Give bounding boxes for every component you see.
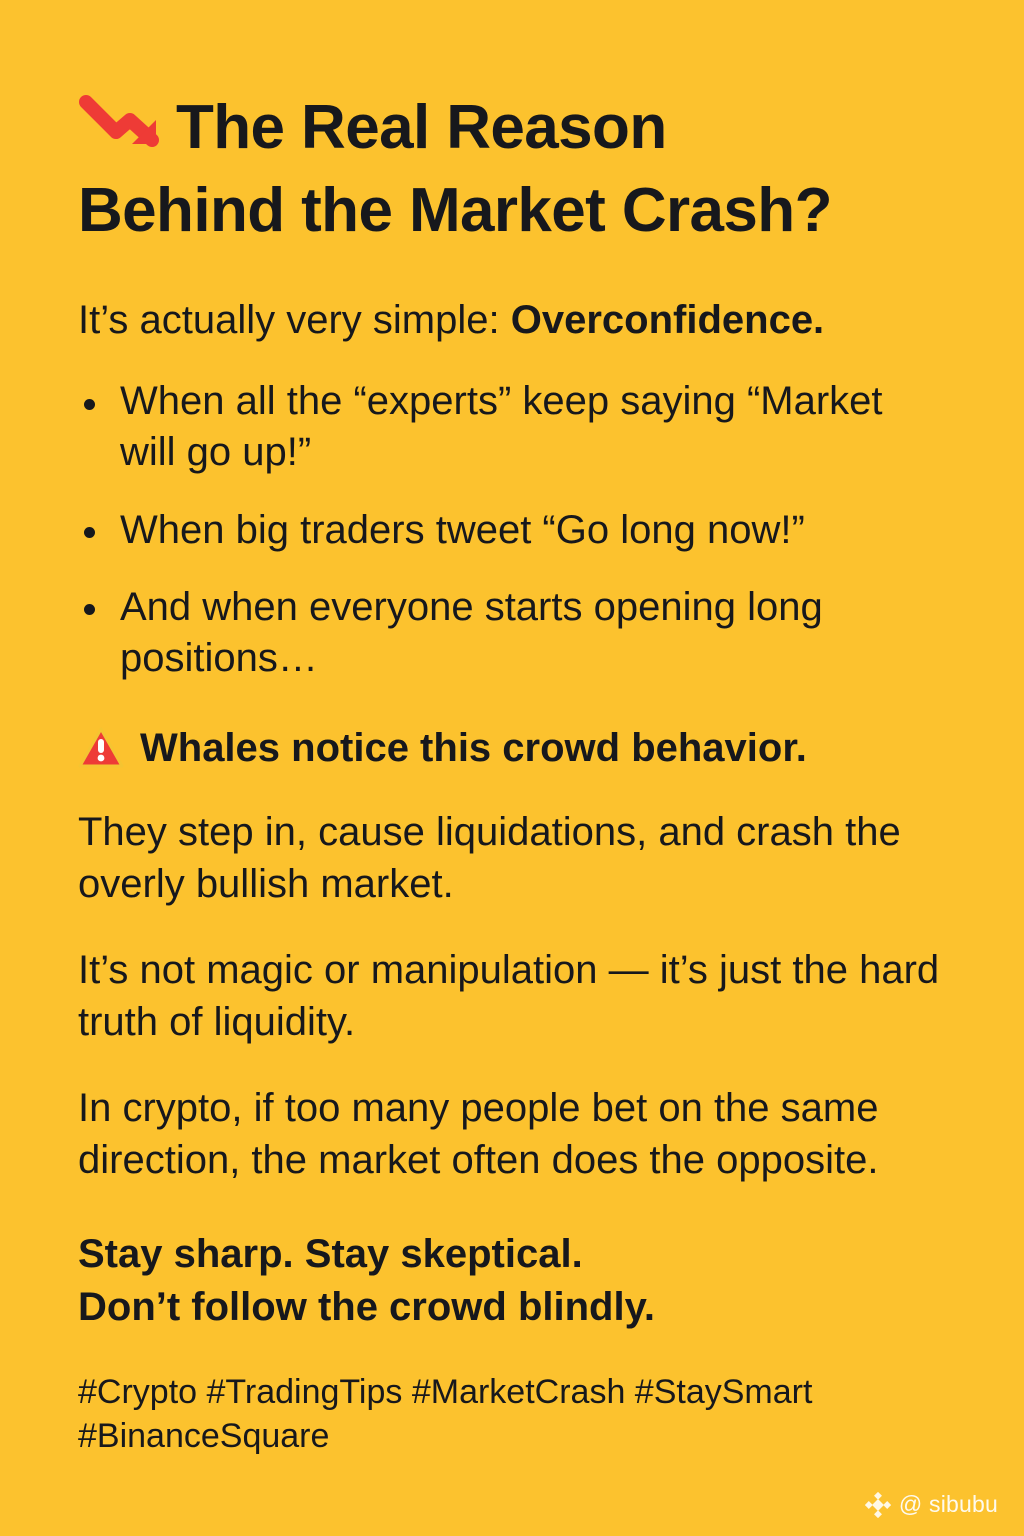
lead-prefix: It’s actually very simple: xyxy=(78,298,511,342)
hashtag-line-2: #BinanceSquare xyxy=(78,1417,329,1455)
hashtag-block: #Crypto #TradingTips #MarketCrash #StayS… xyxy=(78,1370,946,1458)
body-paragraph: In crypto, if too many people bet on the… xyxy=(78,1082,946,1186)
list-item: And when everyone starts opening long po… xyxy=(78,582,946,684)
lead-emphasis: Overconfidence. xyxy=(511,298,824,342)
closing-line-2: Don’t follow the crowd blindly. xyxy=(78,1285,655,1329)
bullet-dot-icon xyxy=(84,527,95,538)
list-item-label: And when everyone starts opening long po… xyxy=(120,585,823,680)
body-paragraph: It’s not magic or manipulation — it’s ju… xyxy=(78,944,946,1048)
watermark-handle: @ sibubu xyxy=(899,1491,998,1518)
list-item-label: When big traders tweet “Go long now!” xyxy=(120,508,805,552)
list-item: When all the “experts” keep saying “Mark… xyxy=(78,376,946,478)
title-line-2: Behind the Market Crash? xyxy=(78,176,832,245)
social-post-card: The Real Reason Behind the Market Crash?… xyxy=(0,0,1024,1536)
closing-line-1: Stay sharp. Stay skeptical. xyxy=(78,1232,583,1276)
body-paragraph: They step in, cause liquidations, and cr… xyxy=(78,806,946,910)
signal-list: When all the “experts” keep saying “Mark… xyxy=(78,376,946,684)
bullet-dot-icon xyxy=(84,604,95,615)
list-item-label: When all the “experts” keep saying “Mark… xyxy=(120,379,883,474)
list-item: When big traders tweet “Go long now!” xyxy=(78,505,946,556)
hashtag-line-1: #Crypto #TradingTips #MarketCrash #StayS… xyxy=(78,1373,812,1411)
watermark: @ sibubu xyxy=(865,1491,998,1518)
warning-triangle-icon xyxy=(78,727,124,769)
closing-statement: Stay sharp. Stay skeptical. Don’t follow… xyxy=(78,1228,946,1334)
warning-callout: Whales notice this crowd behavior. xyxy=(78,724,946,772)
binance-logo-icon xyxy=(865,1492,891,1518)
bullet-dot-icon xyxy=(84,399,95,410)
warning-callout-text: Whales notice this crowd behavior. xyxy=(140,724,807,772)
lead-statement: It’s actually very simple: Overconfidenc… xyxy=(78,294,946,346)
trend-down-icon xyxy=(78,92,164,152)
title-line-1: The Real Reason xyxy=(176,93,667,162)
page-title: The Real Reason Behind the Market Crash? xyxy=(78,86,946,252)
